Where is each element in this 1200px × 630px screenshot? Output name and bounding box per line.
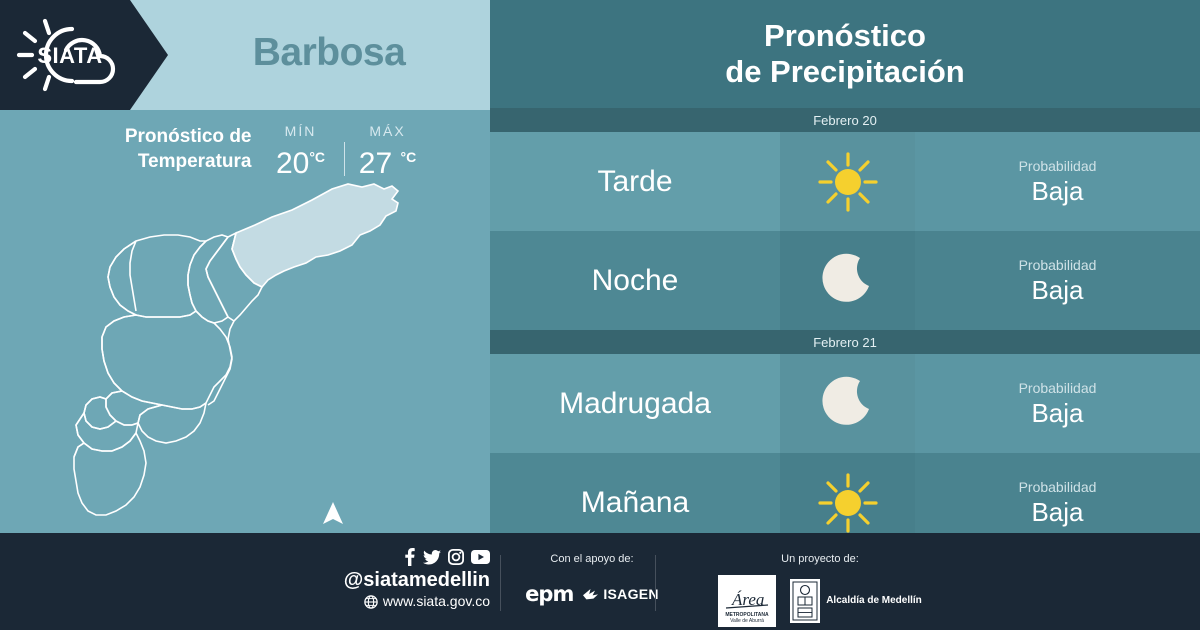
area-logo-line2: Valle de Aburrá (730, 618, 764, 624)
temperature-max: MÁX 27 °C (357, 122, 419, 181)
map-region-north-west-edge (130, 241, 136, 311)
probability-cell: Probabilidad Baja (915, 354, 1200, 453)
probability-cell: Probabilidad Baja (915, 132, 1200, 231)
probability-label: Probabilidad (1019, 379, 1097, 398)
precipitation-title: Pronóstico de Precipitación (490, 0, 1200, 108)
precipitation-title-line1: Pronóstico (764, 18, 926, 54)
temperature-min-unit: °C (309, 149, 325, 165)
map-region-laestrella[interactable] (76, 413, 138, 451)
probability-value: Baja (1031, 275, 1083, 305)
probability-value: Baja (1031, 176, 1083, 206)
alcaldia-crest-icon[interactable] (790, 579, 820, 623)
temperature-max-unit: °C (401, 149, 417, 165)
siata-logo-text: SIATA (37, 43, 102, 68)
forecast-period: Noche (490, 231, 780, 330)
forecast-row[interactable]: Noche Probabilidad Baja (490, 231, 1200, 330)
social-block: @siatamedellin www.siata.gov.co (330, 547, 490, 611)
area-metropolitana-logo[interactable]: Área METROPOLITANA Valle de Aburrá (718, 575, 776, 627)
probability-cell: Probabilidad Baja (915, 231, 1200, 330)
forecast-row[interactable]: Madrugada Probabilidad Baja (490, 354, 1200, 453)
instagram-icon[interactable] (448, 549, 464, 565)
forecast-period: Madrugada (490, 354, 780, 453)
map-svg (40, 175, 460, 530)
isagen-mark-icon (583, 587, 600, 602)
map-region-medellin[interactable] (102, 311, 232, 409)
temperature-divider (344, 142, 345, 176)
infographic-root: SIATA Barbosa Pronóstico de Temperatura … (0, 0, 1200, 630)
support-caption: Con el apoyo de: (512, 551, 672, 567)
footer-divider-2 (655, 555, 656, 611)
moon-icon (780, 231, 915, 330)
siata-logo: SIATA (14, 16, 126, 94)
probability-value: Baja (1031, 398, 1083, 428)
north-arrow-icon (316, 500, 350, 526)
left-panel: SIATA Barbosa Pronóstico de Temperatura … (0, 0, 490, 533)
support-logos: epm ISAGEN (512, 581, 672, 607)
footer-divider-1 (500, 555, 501, 611)
temperature-title: Pronóstico de Temperatura (72, 118, 252, 174)
forecast-period: Tarde (490, 132, 780, 231)
footer: @siatamedellin www.siata.gov.co Con el a… (0, 533, 1200, 630)
map-region-barbosa[interactable] (232, 184, 398, 287)
project-caption: Un proyecto de: (700, 551, 940, 567)
date-band: Febrero 21 (490, 330, 1200, 354)
valle-aburra-map: N (40, 175, 460, 530)
probability-label: Probabilidad (1019, 478, 1097, 497)
forecast-row[interactable]: Tarde (490, 132, 1200, 231)
website-row[interactable]: www.siata.gov.co (330, 592, 490, 611)
temperature-max-label: MÁX (357, 122, 419, 140)
temperature-min: MÍN 20°C (270, 122, 332, 181)
support-block: Con el apoyo de: epm ISAGEN (512, 551, 672, 607)
website-text: www.siata.gov.co (383, 592, 490, 611)
probability-value: Baja (1031, 497, 1083, 527)
precipitation-title-line2: de Precipitación (725, 54, 964, 90)
temperature-min-label: MÍN (270, 122, 332, 140)
city-header: SIATA Barbosa (0, 0, 490, 110)
forecast-rows: Febrero 20 Tarde (490, 108, 1200, 552)
temperature-title-line2: Temperatura (138, 151, 252, 172)
twitter-icon[interactable] (423, 550, 441, 565)
facebook-icon[interactable] (403, 548, 416, 566)
alcaldia-label: Alcaldía de Medellín (826, 595, 922, 607)
map-region-caldas[interactable] (74, 433, 146, 515)
probability-label: Probabilidad (1019, 256, 1097, 275)
isagen-logo[interactable]: ISAGEN (583, 586, 658, 602)
probability-label: Probabilidad (1019, 157, 1097, 176)
sun-icon (780, 132, 915, 231)
social-handle[interactable]: @siatamedellin (330, 568, 490, 592)
map-region-copacabana[interactable] (188, 235, 228, 323)
temperature-values: MÍN 20°C MÁX 27 °C (270, 118, 419, 181)
page-title: Barbosa (168, 0, 490, 110)
epm-logo[interactable]: epm (525, 582, 573, 606)
map-region-bello[interactable] (108, 235, 206, 317)
globe-icon (364, 595, 378, 609)
siata-logo-banner: SIATA (0, 0, 168, 110)
project-block: Un proyecto de: Área METROPOLITANA Valle… (700, 551, 940, 627)
temperature-title-line1: Pronóstico de (125, 126, 252, 147)
date-band: Febrero 20 (490, 108, 1200, 132)
isagen-text: ISAGEN (603, 586, 658, 602)
youtube-icon[interactable] (471, 550, 490, 564)
social-icons (330, 547, 490, 567)
project-logos: Área METROPOLITANA Valle de Aburrá (700, 575, 940, 627)
moon-icon (780, 354, 915, 453)
precipitation-panel: Pronóstico de Precipitación Febrero 20 T… (490, 0, 1200, 533)
